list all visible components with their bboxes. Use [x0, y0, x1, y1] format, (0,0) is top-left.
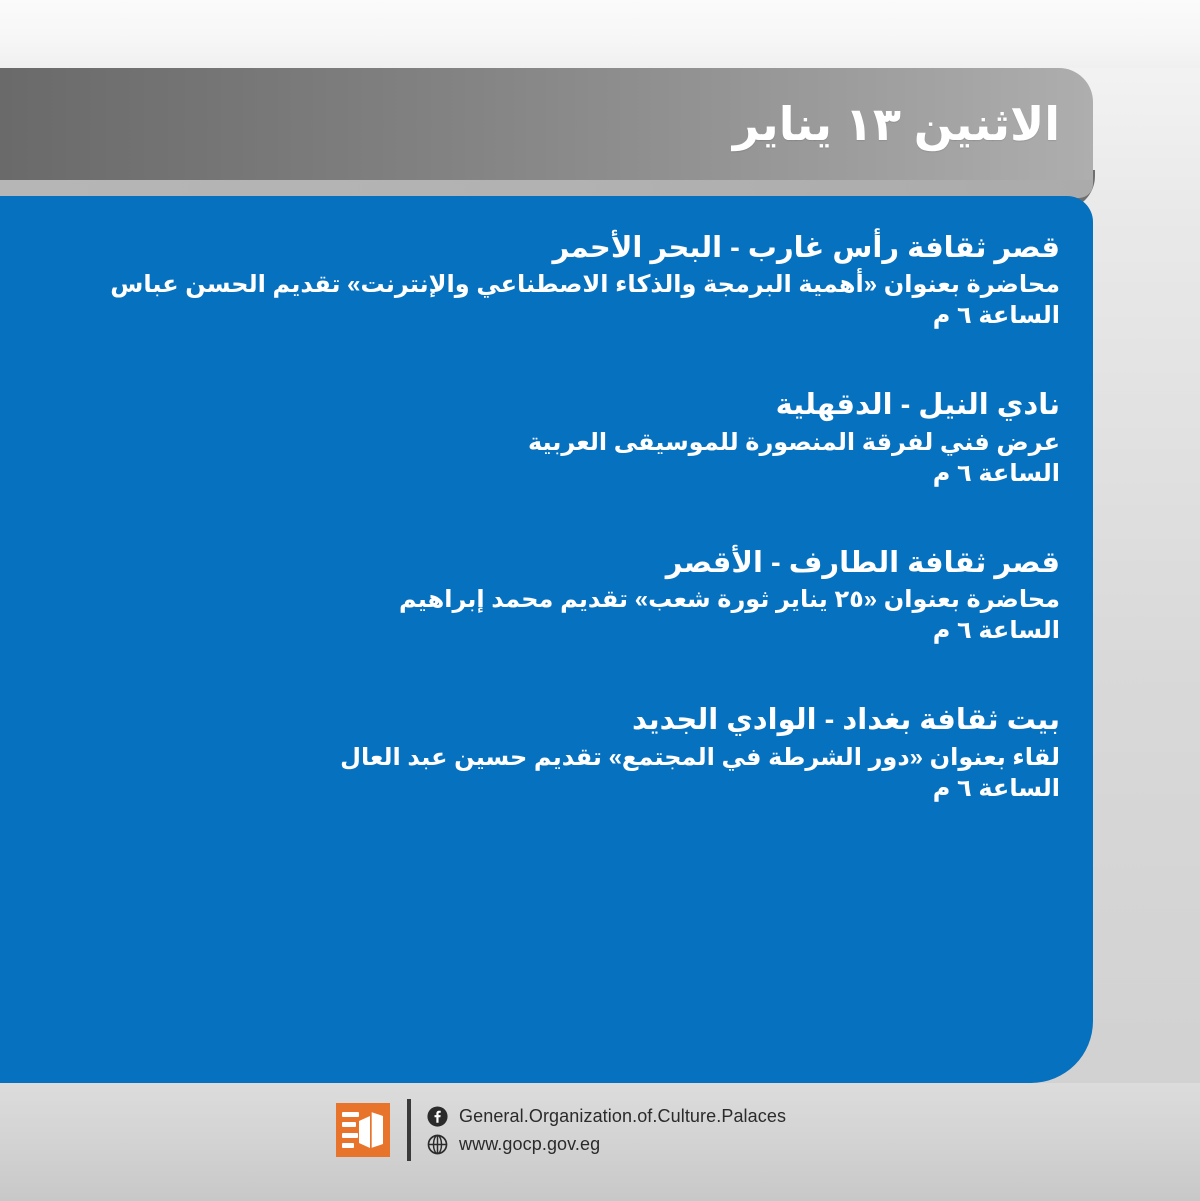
events-panel: قصر ثقافة رأس غارب - البحر الأحمر محاضرة… [0, 196, 1093, 1083]
footer-links: General.Organization.of.Culture.Palaces … [427, 1106, 786, 1155]
event-venue: قصر ثقافة الطارف - الأقصر [33, 545, 1060, 582]
facebook-handle-text: General.Organization.of.Culture.Palaces [459, 1106, 786, 1127]
event-description: محاضرة بعنوان «أهمية البرمجة والذكاء الا… [33, 269, 1060, 300]
events-list: قصر ثقافة رأس غارب - البحر الأحمر محاضرة… [33, 230, 1060, 804]
event-item: بيت ثقافة بغداد - الوادي الجديد لقاء بعن… [33, 702, 1060, 803]
footer-bar: General.Organization.of.Culture.Palaces … [0, 1083, 1200, 1201]
event-description: لقاء بعنوان «دور الشرطة في المجتمع» تقدي… [33, 742, 1060, 773]
logo-building-shape [358, 1110, 385, 1150]
event-time: الساعة ٦ م [33, 458, 1060, 489]
website-url-text: www.gocp.gov.eg [459, 1134, 600, 1155]
event-venue: قصر ثقافة رأس غارب - البحر الأحمر [33, 230, 1060, 267]
poster-date: الاثنين ١٣ يناير [733, 100, 1060, 148]
event-time: الساعة ٦ م [33, 773, 1060, 804]
event-description: عرض فني لفرقة المنصورة للموسيقى العربية [33, 427, 1060, 458]
footer-vertical-divider [407, 1099, 411, 1161]
facebook-link[interactable]: General.Organization.of.Culture.Palaces [427, 1106, 786, 1127]
logo-arabic-text-lines [342, 1112, 359, 1148]
event-time: الساعة ٦ م [33, 300, 1060, 331]
event-item: قصر ثقافة رأس غارب - البحر الأحمر محاضرة… [33, 230, 1060, 331]
globe-icon [427, 1134, 448, 1155]
facebook-icon [427, 1106, 448, 1127]
event-item: قصر ثقافة الطارف - الأقصر محاضرة بعنوان … [33, 545, 1060, 646]
event-time: الساعة ٦ م [33, 615, 1060, 646]
event-description: محاضرة بعنوان «٢٥ يناير ثورة شعب» تقديم … [33, 584, 1060, 615]
event-venue: بيت ثقافة بغداد - الوادي الجديد [33, 702, 1060, 739]
event-poster: الاثنين ١٣ يناير قصر ثقافة رأس غارب - ال… [0, 0, 1200, 1201]
event-item: نادي النيل - الدقهلية عرض فني لفرقة المن… [33, 387, 1060, 488]
website-link[interactable]: www.gocp.gov.eg [427, 1134, 786, 1155]
header-date-band: الاثنين ١٣ يناير [0, 68, 1093, 180]
event-venue: نادي النيل - الدقهلية [33, 387, 1060, 424]
top-background-strip [0, 0, 1200, 68]
footer-content: General.Organization.of.Culture.Palaces … [336, 1099, 786, 1161]
gocp-logo-icon [336, 1103, 390, 1157]
